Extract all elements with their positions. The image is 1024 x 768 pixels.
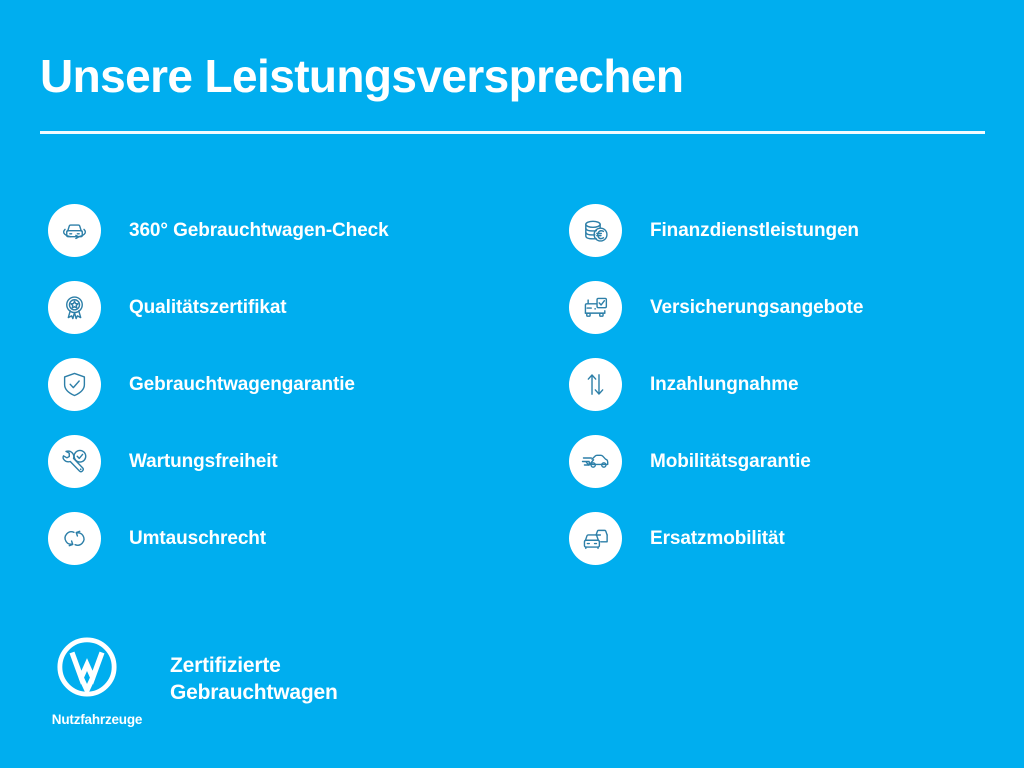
benefits-left-column: 360° Gebrauchtwagen-Check Qualitätszerti… (48, 192, 518, 577)
benefit-item-ersatzmobilitaet[interactable]: Ersatzmobilität (569, 500, 1009, 577)
benefit-item-wartungsfreiheit[interactable]: Wartungsfreiheit (48, 423, 518, 500)
van-checkbox-icon (569, 281, 622, 334)
shield-check-icon (48, 358, 101, 411)
logo-subtitle: Nutzfahrzeuge (42, 712, 152, 727)
benefit-label: Inzahlungnahme (650, 374, 799, 396)
slide-canvas: Unsere Leistungsversprechen 360° (0, 0, 1024, 768)
benefit-label: Ersatzmobilität (650, 528, 785, 550)
up-down-arrows-icon (569, 358, 622, 411)
benefit-label: Umtauschrecht (129, 528, 266, 550)
benefit-label: Wartungsfreiheit (129, 451, 278, 473)
benefit-item-mobilitaetsgarantie[interactable]: Mobilitätsgarantie (569, 423, 1009, 500)
benefit-item-inzahlungnahme[interactable]: Inzahlungnahme (569, 346, 1009, 423)
benefit-item-versicherungsangebote[interactable]: Versicherungsangebote (569, 269, 1009, 346)
brand-claim: Zertifizierte Gebrauchtwagen (170, 652, 338, 706)
coins-euro-icon (569, 204, 622, 257)
benefit-label: Mobilitätsgarantie (650, 451, 811, 473)
car-motion-icon (569, 435, 622, 488)
benefit-label: Finanzdienstleistungen (650, 220, 859, 242)
benefit-label: Qualitätszertifikat (129, 297, 287, 319)
benefit-label: Gebrauchtwagengarantie (129, 374, 355, 396)
benefit-item-finanzdienstleistungen[interactable]: Finanzdienstleistungen (569, 192, 1009, 269)
brand-claim-line1: Zertifizierte (170, 652, 338, 679)
title-divider (40, 131, 985, 134)
brand-claim-line2: Gebrauchtwagen (170, 679, 338, 706)
benefit-label: 360° Gebrauchtwagen-Check (129, 220, 389, 242)
page-title: Unsere Leistungsversprechen (40, 49, 683, 103)
quality-medal-icon (48, 281, 101, 334)
benefit-item-qualitaetszertifikat[interactable]: Qualitätszertifikat (48, 269, 518, 346)
car-360-check-icon (48, 204, 101, 257)
exchange-arrows-icon (48, 512, 101, 565)
volkswagen-logo (56, 636, 118, 698)
benefit-item-gebrauchtwagengarantie[interactable]: Gebrauchtwagengarantie (48, 346, 518, 423)
brand-lockup: Nutzfahrzeuge Zertifizierte Gebrauchtwag… (42, 636, 442, 736)
wrench-check-icon (48, 435, 101, 488)
benefits-right-column: Finanzdienstleistungen (569, 192, 1009, 577)
benefit-item-umtauschrecht[interactable]: Umtauschrecht (48, 500, 518, 577)
benefit-label: Versicherungsangebote (650, 297, 863, 319)
two-cars-icon (569, 512, 622, 565)
benefit-item-360-check[interactable]: 360° Gebrauchtwagen-Check (48, 192, 518, 269)
